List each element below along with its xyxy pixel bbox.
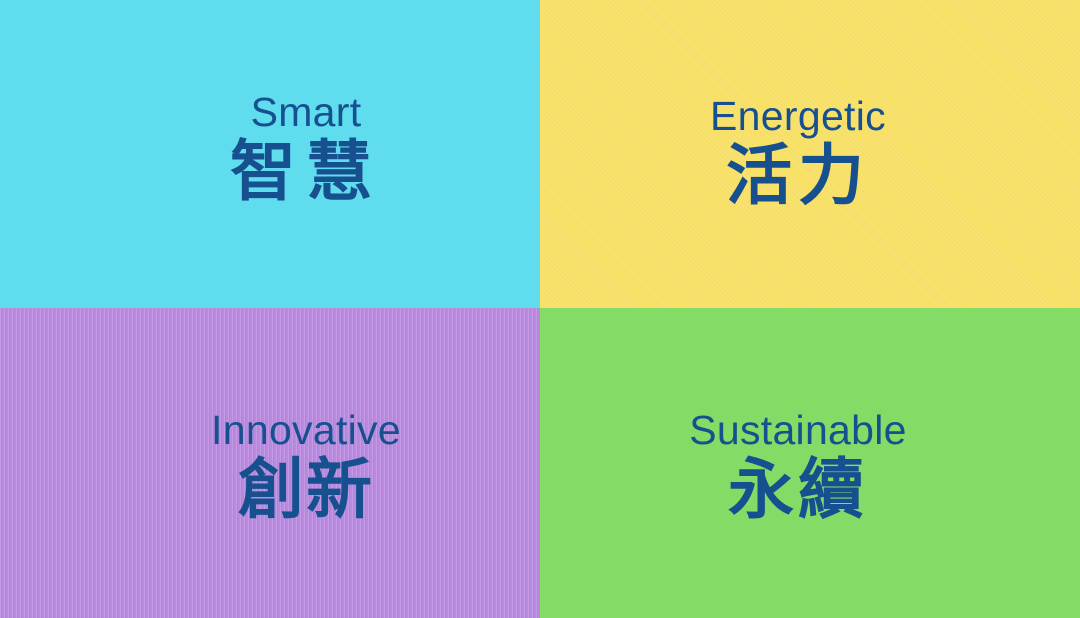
quadrant-innovative: Innovative 創新 [0, 308, 540, 618]
label-cjk-sustainable: 永續 [728, 457, 868, 523]
text-block-innovative: Innovative 創新 [211, 410, 401, 523]
text-block-smart: Smart 智慧 [230, 92, 382, 205]
brand-values-grid: Smart 智慧 Energetic 活力 Innovative 創新 Sust… [0, 0, 1080, 618]
label-cjk-smart: 智慧 [230, 139, 382, 205]
label-en-sustainable: Sustainable [689, 410, 907, 451]
quadrant-energetic: Energetic 活力 [540, 0, 1080, 308]
label-en-smart: Smart [251, 92, 362, 133]
quadrant-sustainable: Sustainable 永續 [540, 308, 1080, 618]
label-en-innovative: Innovative [211, 410, 401, 451]
text-block-energetic: Energetic 活力 [710, 96, 886, 209]
text-block-sustainable: Sustainable 永續 [689, 410, 907, 523]
quadrant-smart: Smart 智慧 [0, 0, 540, 308]
label-cjk-energetic: 活力 [726, 143, 870, 209]
label-cjk-innovative: 創新 [238, 457, 374, 523]
label-en-energetic: Energetic [710, 96, 886, 137]
